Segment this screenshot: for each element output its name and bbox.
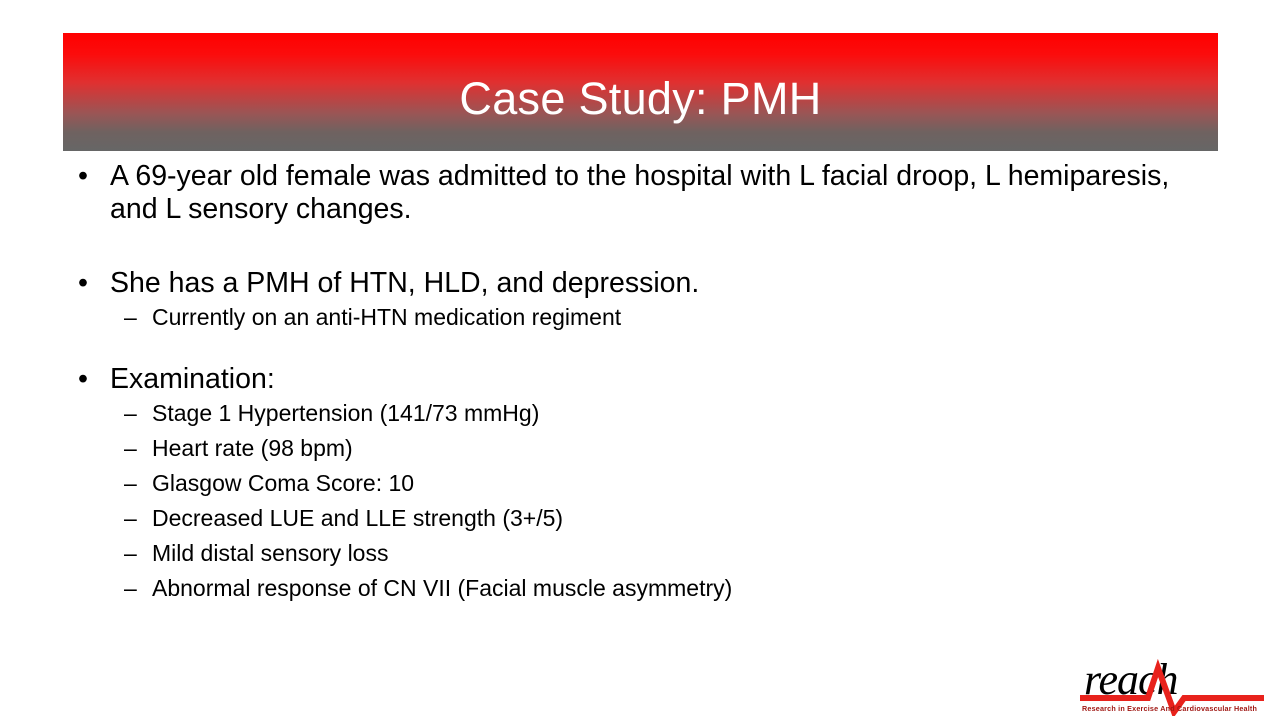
bullet-marker: • — [78, 267, 88, 300]
bullet-text: A 69-year old female was admitted to the… — [110, 160, 1169, 225]
sub-bullet-item: – Glasgow Coma Score: 10 — [63, 466, 1223, 501]
bullet-text: Examination: — [110, 363, 275, 395]
sub-bullet-marker: – — [124, 431, 137, 466]
sub-bullet-item: – Stage 1 Hypertension (141/73 mmHg) — [63, 396, 1223, 431]
sub-bullet-marker: – — [124, 396, 137, 431]
bullet-text: She has a PMH of HTN, HLD, and depressio… — [110, 267, 699, 299]
sub-bullet-item: – Decreased LUE and LLE strength (3+/5) — [63, 501, 1223, 536]
sub-bullet-marker: – — [124, 300, 137, 335]
sub-bullet-marker: – — [124, 571, 137, 606]
bullet-item: • A 69-year old female was admitted to t… — [63, 160, 1223, 227]
sub-bullet-marker: – — [124, 466, 137, 501]
sub-bullet-text: Abnormal response of CN VII (Facial musc… — [152, 575, 732, 601]
sub-bullet-item: – Currently on an anti-HTN medication re… — [63, 300, 1223, 335]
sub-bullet-item: – Abnormal response of CN VII (Facial mu… — [63, 571, 1223, 606]
title-banner: Case Study: PMH — [63, 33, 1218, 151]
spacer — [63, 227, 1223, 267]
spacer — [63, 335, 1223, 363]
sub-bullet-text: Decreased LUE and LLE strength (3+/5) — [152, 505, 563, 531]
sub-bullet-marker: – — [124, 501, 137, 536]
sub-bullet-text: Mild distal sensory loss — [152, 540, 388, 566]
bullet-item: • She has a PMH of HTN, HLD, and depress… — [63, 267, 1223, 300]
sub-bullet-text: Heart rate (98 bpm) — [152, 435, 353, 461]
page-title: Case Study: PMH — [459, 64, 821, 121]
reach-tagline-text: Research in Exercise And Cardiovascular … — [1082, 704, 1257, 713]
bullet-marker: • — [78, 160, 88, 193]
bullet-item: • Examination: — [63, 363, 1223, 396]
bullet-marker: • — [78, 363, 88, 396]
reach-logo: reach Research in Exercise And Cardiovas… — [1078, 656, 1266, 716]
sub-bullet-text: Glasgow Coma Score: 10 — [152, 470, 414, 496]
sub-bullet-item: – Heart rate (98 bpm) — [63, 431, 1223, 466]
sub-bullet-text: Currently on an anti-HTN medication regi… — [152, 304, 621, 330]
sub-bullet-text: Stage 1 Hypertension (141/73 mmHg) — [152, 400, 539, 426]
sub-bullet-item: – Mild distal sensory loss — [63, 536, 1223, 571]
slide-canvas: Case Study: PMH • A 69-year old female w… — [0, 0, 1280, 720]
sub-bullet-marker: – — [124, 536, 137, 571]
slide-body: • A 69-year old female was admitted to t… — [63, 160, 1223, 606]
